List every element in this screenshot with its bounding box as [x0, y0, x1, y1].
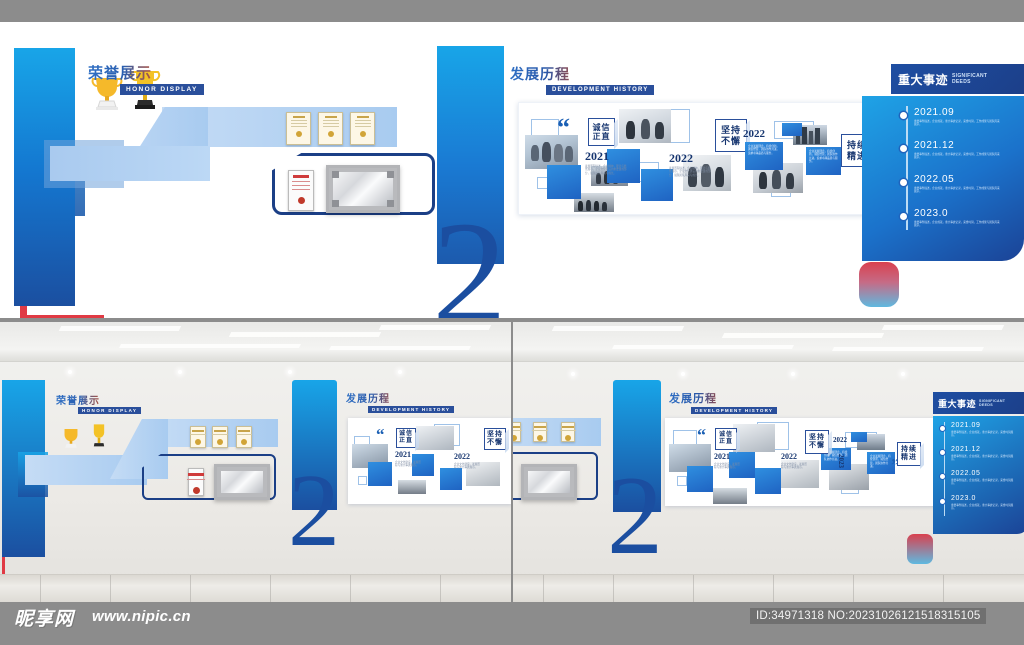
room-render-left: 荣誉展示 HONOR DISPLAY 2 发展历程 DEVELOPMENT HI…: [0, 322, 511, 602]
timeline-date: 2022.05: [951, 470, 981, 477]
watermark-id: ID:34971318 NO:20231026121518315105: [750, 608, 986, 624]
scene-dev-title-en: DEVELOPMENT HISTORY: [368, 406, 454, 413]
quote-open-mark: “: [557, 115, 570, 141]
scene-dev-title-cn: 发展历程: [346, 390, 390, 405]
scene-plaque: [214, 464, 270, 500]
body-text: 发展历程描述，企业精神，理念与愿景展示，企业文化建设的重要组成部分，展现团队风采…: [585, 165, 627, 175]
honor-title-en: HONOR DISPLAY: [120, 84, 204, 95]
timeline-text: 重要事件描述，企业成就，重大事迹记录，荣誉时刻，工作成果与团队风采展示。: [914, 153, 1002, 160]
ceiling: [0, 322, 511, 362]
note-block: 企业发展理念，持续创新，诚信经营，团队协作共进，追求卓越品质与服务。: [806, 147, 841, 175]
accent-rounded-chip: [859, 262, 899, 307]
scene-accent-chip: [907, 534, 933, 564]
scene-certificate: [513, 422, 521, 442]
scene-development-board: 企业发展理念，持续创新，诚信经营，团队协作共进。 企业发展理念，持续创新，诚信经…: [665, 418, 941, 506]
significant-deeds-header: 重大事迹 SIGNIFICANT DEEDS: [891, 64, 1024, 94]
certificate-red: [288, 170, 314, 211]
certificate-2: [318, 112, 343, 145]
plaque-mirror: [326, 165, 400, 213]
deeds-title-cn: 重大事迹: [898, 71, 948, 88]
scene-certificate: [236, 426, 252, 448]
design-panel: 荣誉展示 HONOR DISPLAY 2 发展历程 DEVELOPMENT HI…: [0, 22, 1024, 322]
photo-office-discussion: [619, 109, 671, 143]
timeline-dot-icon: [900, 112, 907, 119]
value-line-1: 坚持: [721, 125, 741, 135]
screenshot-root: 荣誉展示 HONOR DISPLAY 2 发展历程 DEVELOPMENT HI…: [0, 0, 1024, 645]
value-line-2: 正直: [593, 132, 611, 141]
year-label: 2021: [585, 149, 609, 164]
scene-plaque: [521, 464, 577, 500]
value-line-1: 诚信: [593, 123, 611, 132]
room-render-right: 2 发展历程 DEVELOPMENT HISTORY 企业发展理念，持续创新，诚…: [513, 322, 1024, 602]
floor: [513, 574, 1024, 602]
scene-development-board: “ 诚信正直 坚持不懈 2021 2022 企业文化建设，发展历程与重大事迹展示…: [348, 418, 511, 504]
year-label: 2022: [743, 128, 765, 140]
timeline-dot-icon: [940, 499, 945, 504]
timeline-date: 2022.05: [914, 174, 954, 185]
scene-trophy-cup-icon: [88, 422, 110, 450]
deeds-title-en: SIGNIFICANT DEEDS: [952, 73, 987, 85]
timeline-date: 2021.12: [914, 140, 954, 151]
scene-deeds-title-cn: 重大事迹: [938, 397, 976, 410]
floor: [0, 574, 511, 602]
top-gray-band: [0, 0, 1024, 22]
timeline-date: 2021.09: [914, 107, 954, 118]
watermark-logo: 昵享网: [14, 604, 74, 631]
development-title-en: DEVELOPMENT HISTORY: [546, 85, 654, 95]
scene-dev-title-en: DEVELOPMENT HISTORY: [691, 407, 777, 414]
scene-certificate-red: [188, 468, 204, 496]
development-title-cn: 发展历程: [510, 64, 570, 84]
watermark-url: www.nipic.cn: [92, 608, 191, 625]
development-board: “ ” 诚信 正直 坚持 不懈 持续 精进 2021 2022 2022 202…: [518, 102, 918, 215]
scene-certificate: [212, 426, 228, 448]
timeline-axis: [906, 106, 908, 230]
gradient-square: [782, 123, 802, 136]
value-line-2: 不懈: [721, 136, 741, 146]
timeline-dot-icon: [940, 474, 945, 479]
certificate-1: [286, 112, 311, 145]
body-text: 发展历程描述，企业精神，理念与愿景展示，企业文化建设的重要组成部分，展现团队风采…: [669, 167, 711, 177]
scene-dev-title-cn: 发展历程: [669, 390, 717, 406]
scene-honor-title-cn: 荣誉展示: [56, 392, 100, 407]
scene-deeds-header: 重大事迹 SIGNIFICANT DEEDS: [933, 392, 1024, 414]
scene-numeral-two: 2: [288, 472, 340, 550]
timeline-date: 2021.09: [951, 422, 981, 429]
honor-title-cn: 荣誉展示: [88, 62, 152, 83]
numeral-two-glyph: 2: [432, 218, 522, 322]
shelf-lower: [50, 146, 210, 181]
scene-certificate: [533, 422, 547, 442]
scene-certificate: [190, 426, 206, 448]
photo-team-meeting: [525, 135, 578, 169]
scene-numeral-two: 2: [607, 474, 663, 558]
timeline-date: 2023.0: [914, 208, 948, 219]
gradient-square: [547, 165, 581, 199]
timeline-text: 重要事件描述，企业成就，重大事迹记录，荣誉时刻，工作成果与团队风采展示。: [914, 221, 1002, 228]
timeline-text: 重要事件描述，企业成就，重大事迹记录，荣誉时刻，工作成果与团队风采展示。: [914, 120, 1002, 127]
timeline-text: 重要事件描述，企业成就，重大事迹记录，荣誉时刻，工作成果与团队风采展示。: [914, 187, 1002, 194]
ceiling: [513, 322, 1024, 362]
scene-deeds-title-en: SIGNIFICANT DEEDS: [979, 399, 1005, 408]
value-box-integrity: 诚信 正直: [588, 118, 615, 146]
timeline-date: 2023.0: [951, 495, 976, 502]
timeline-dot-icon: [900, 145, 907, 152]
scene-certificate: [561, 422, 575, 442]
timeline-dot-icon: [940, 426, 945, 431]
timeline-dot-icon: [900, 213, 907, 220]
scene-trophy-gold-icon: [60, 426, 82, 450]
certificate-3: [350, 112, 375, 145]
timeline-dot-icon: [900, 179, 907, 186]
note-block: 企业发展理念，持续创新，诚信经营，团队协作共进，追求卓越品质与服务。: [745, 142, 783, 170]
scene-shelf-partial: [513, 418, 601, 446]
scene-honor-title-en: HONOR DISPLAY: [78, 407, 141, 414]
year-label: 2022: [669, 151, 693, 166]
timeline-date: 2021.12: [951, 446, 981, 453]
timeline-dot-icon: [940, 450, 945, 455]
